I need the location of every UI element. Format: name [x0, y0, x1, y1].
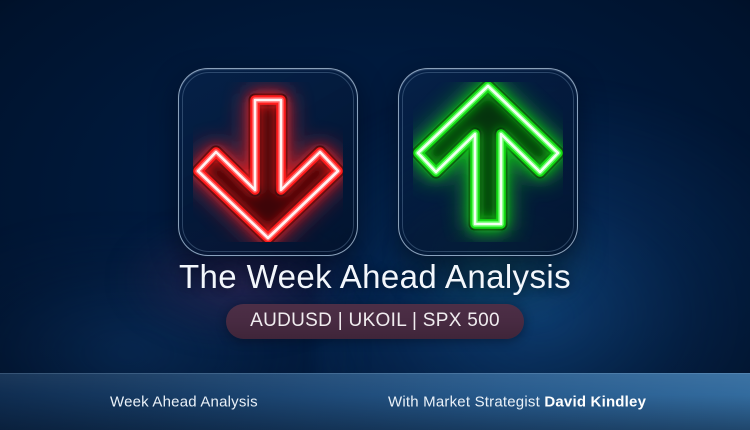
footer-bar: Week Ahead Analysis With Market Strategi… [0, 373, 750, 430]
up-arrow-card-inner [399, 69, 577, 255]
footer-presenter-prefix: With Market Strategist [388, 393, 540, 410]
instruments-badge-wrap: AUDUSD | UKOIL | SPX 500 [0, 304, 750, 339]
week-ahead-analysis-banner: The Week Ahead Analysis AUDUSD | UKOIL |… [0, 0, 750, 430]
down-arrow-card-inner [179, 69, 357, 255]
footer-series-label: Week Ahead Analysis [110, 393, 258, 410]
headline-block: The Week Ahead Analysis AUDUSD | UKOIL |… [0, 258, 750, 339]
up-arrow-card [398, 68, 578, 256]
down-arrow-card [178, 68, 358, 256]
page-title: The Week Ahead Analysis [0, 258, 750, 296]
neon-down-arrow-icon [193, 82, 343, 242]
instruments-badge: AUDUSD | UKOIL | SPX 500 [226, 304, 524, 339]
icon-card-group [0, 0, 750, 270]
footer-presenter: With Market Strategist David Kindley [388, 393, 646, 410]
neon-up-arrow-icon [413, 82, 563, 242]
footer-presenter-name: David Kindley [544, 393, 646, 410]
